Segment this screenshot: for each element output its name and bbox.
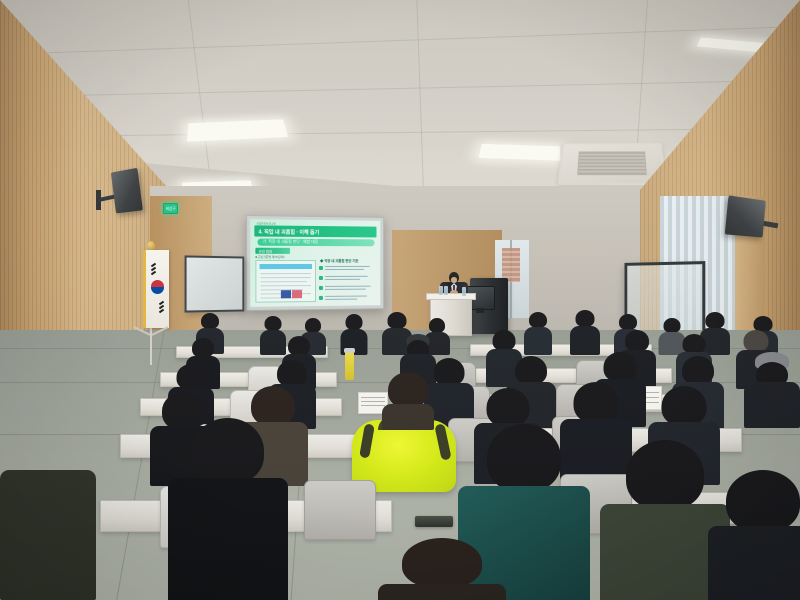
- attendee: [524, 312, 552, 354]
- attendee: [708, 470, 800, 600]
- ac-grille: [577, 151, 647, 175]
- exit-sign: 비상구: [163, 203, 178, 214]
- whiteboard-left: [185, 255, 245, 312]
- slide-header-sub: 가. 직장 내 괴롭힘 판단 · 예방 대응: [257, 239, 374, 247]
- slide-bullet-text-1: 사용자 또는 근로자가 직장에서의 지위·관계 우위를 이용: [250, 219, 251, 220]
- attendee: [378, 538, 506, 600]
- slide-table-panel: [255, 260, 316, 303]
- slide-bullet-text-3: 신체적·정신적 고통을 주거나 근무환경을 악화시키는 행위: [250, 219, 251, 220]
- slide-header-small-text: 관련 법령: [258, 248, 272, 253]
- projection-screen: 산업안전보건교육 4. 직업 내 괴롭힘 · 이해 돕기 가. 직장 내 괴롭힘…: [246, 215, 384, 311]
- south-korean-flag: [143, 250, 169, 328]
- bullet-marker-icon: [319, 296, 323, 300]
- bullet-marker-icon: [319, 266, 323, 270]
- lectern-top: [426, 293, 476, 300]
- presentation-slide: 산업안전보건교육 4. 직업 내 괴롭힘 · 이해 돕기 가. 직장 내 괴롭힘…: [250, 219, 380, 307]
- lecture-hall-photo: 비상구 산업안전보건교육 4. 직업 내 괴롭힘 · 이해 돕기 가. 직장 내…: [0, 0, 800, 600]
- slide-header-main-text: 4. 직업 내 괴롭힘 · 이해 돕기: [258, 228, 319, 236]
- slide-flag-graphics: [281, 290, 303, 298]
- slide-header-small: 관련 법령: [255, 247, 290, 253]
- ceiling-light-panel: [479, 144, 561, 161]
- slide-table-header-text: 판단 요소: [250, 219, 251, 220]
- attendee: [0, 470, 96, 600]
- slide-tag: ■ 근로기준법 제76조의2: [255, 255, 284, 259]
- slide-bullet-panel: ◆ 직장 내 괴롭힘 판단 기준: [319, 258, 376, 303]
- monitor-stand: [476, 308, 484, 313]
- slide-table-header: [259, 264, 312, 269]
- slide-header-sub-text: 가. 직장 내 괴롭힘 판단 · 예방 대응: [263, 240, 319, 245]
- wall-speaker-right: [725, 195, 766, 237]
- attendee: [744, 352, 800, 426]
- bullet-marker-icon: [319, 276, 323, 280]
- slide-bullet-text-4: 객관적으로 피해자와 같은 처지의 사람이 느끼는 정도: [250, 219, 251, 220]
- water-bottle: [462, 287, 466, 296]
- slide-bullets-title: ◆ 직장 내 괴롭힘 판단 기준: [320, 258, 358, 263]
- attendee: [382, 372, 434, 428]
- smartphone: [415, 516, 453, 527]
- attendee: [570, 310, 600, 354]
- slide-bullet-item: [319, 294, 376, 295]
- wall-speaker-left: [111, 168, 143, 214]
- attendee: [168, 418, 288, 600]
- drink-bottle: [345, 352, 354, 380]
- slide-bullet-text-2: 업무상 적정범위를 넘어 다른 근로자에게: [250, 219, 251, 220]
- slide-header-main: 4. 직업 내 괴롭힘 · 이해 돕기: [254, 225, 376, 237]
- water-bottle: [439, 286, 443, 295]
- brick-wall-detail: [502, 248, 520, 282]
- water-bottle: [444, 286, 448, 295]
- chair: [304, 480, 376, 540]
- presenter-face: [451, 277, 457, 283]
- bullet-marker-icon: [319, 286, 323, 290]
